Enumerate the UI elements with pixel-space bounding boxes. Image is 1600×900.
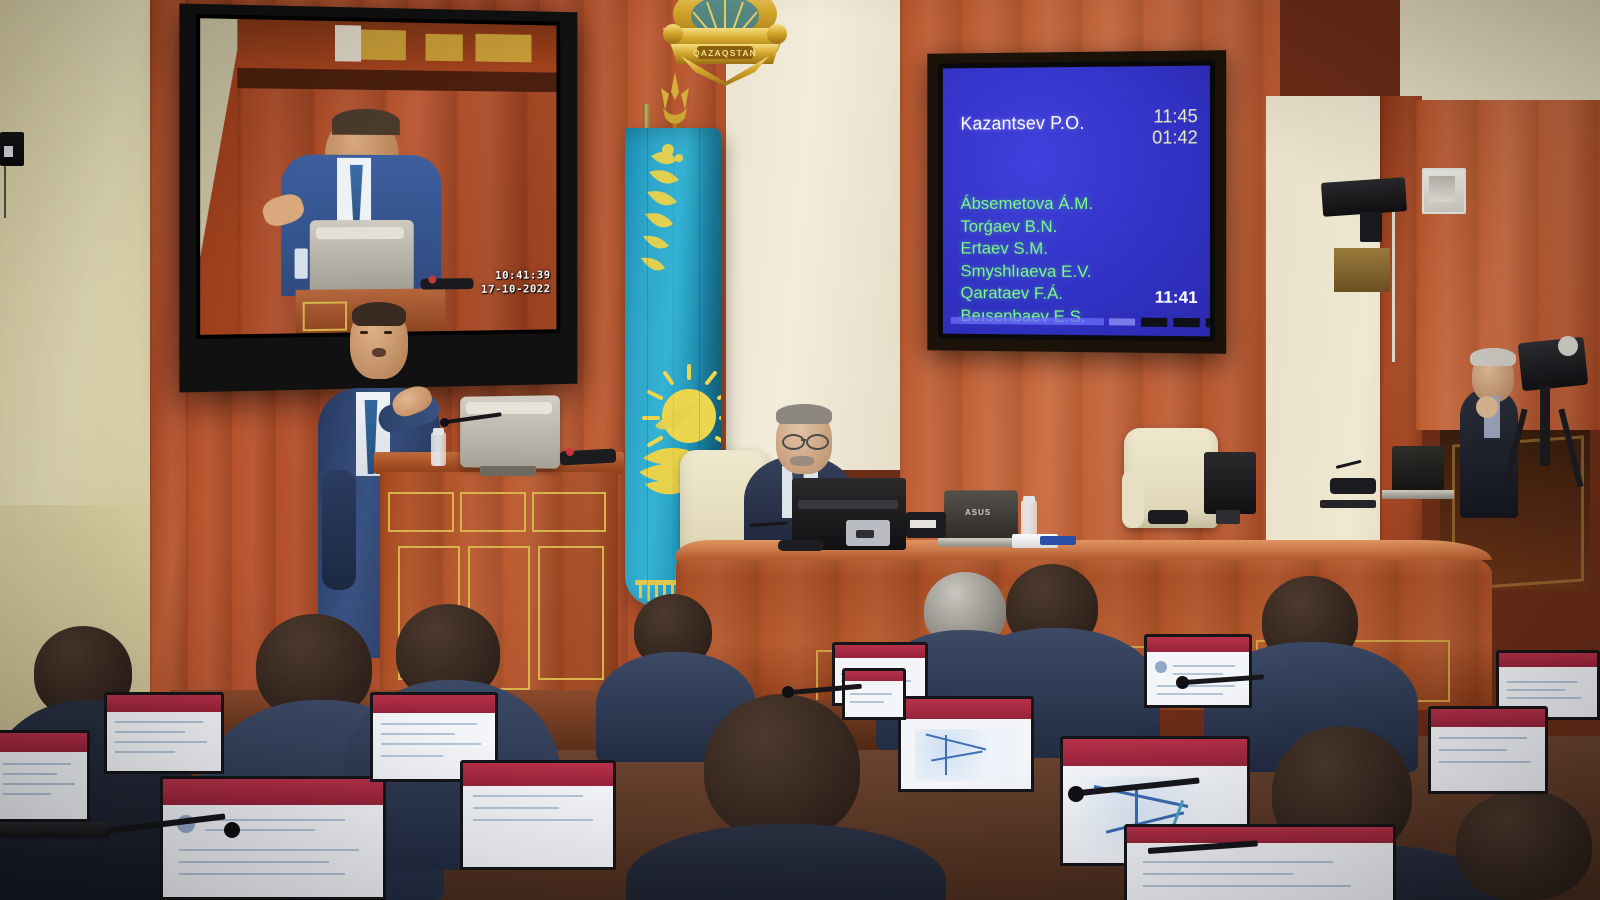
audience-microphone-tip <box>1176 676 1189 689</box>
audience-laptop-header <box>107 695 221 712</box>
right-desk-laptop-base <box>1382 490 1454 499</box>
display-progress-bar <box>951 317 1104 325</box>
audience-laptop <box>0 730 90 822</box>
svg-text:QAZAQSTAN: QAZAQSTAN <box>693 48 757 58</box>
audience-head-foreground <box>704 694 860 840</box>
display-speaker-timer: 01:42 <box>1152 128 1198 150</box>
air-vent-grille <box>1429 176 1455 202</box>
display-progress-bar-segment <box>1109 318 1135 325</box>
speaker-arm-lower <box>322 470 356 590</box>
chairman-hair <box>776 404 832 424</box>
chairman-monitor-vent <box>798 500 898 509</box>
rostrum-bottle-cap <box>433 428 444 435</box>
rostrum-indicator-light <box>566 448 574 456</box>
flagpole-finial-icon <box>655 70 695 136</box>
speaker-queue-list: Ábsemetova Á.M. Torǵaev B.N. Ertaev S.M.… <box>960 193 1093 329</box>
audience-laptop-header <box>1147 637 1249 652</box>
session-hall-photo: 10:41:39 17-10-2022 <box>0 0 1600 900</box>
projection-screen-image: 10:41:39 17-10-2022 <box>200 18 556 335</box>
audience-laptop-screen <box>901 699 1031 789</box>
audience-laptop-screen <box>0 733 87 819</box>
right-desk-monitor-stand <box>1216 510 1240 524</box>
tripod-leg-center <box>1540 386 1550 466</box>
tripod-camera-lens <box>1558 336 1578 356</box>
wall-speaker-light <box>4 146 13 157</box>
audience-laptop-screen <box>163 779 383 897</box>
ceiling-camera-icon <box>1321 177 1407 217</box>
projected-speaker-hair <box>332 108 400 135</box>
chairman-glasses-left <box>782 434 805 450</box>
presidium-bottle-cap <box>1023 496 1035 503</box>
audience-laptop <box>1428 706 1548 794</box>
rostrum-monitor-vent <box>466 402 552 414</box>
audience-laptop-screen <box>463 763 613 867</box>
cameraman-hair <box>1470 348 1516 366</box>
display-osd-chip-1 <box>1141 318 1167 327</box>
audience-laptop <box>1144 634 1252 708</box>
display-bottom-time: 11:41 <box>1155 288 1198 308</box>
audience-laptop-header <box>0 733 87 752</box>
audience-laptop-screen <box>1147 637 1249 705</box>
audience-laptop-base <box>0 822 110 838</box>
display-osd-chip-3 <box>1206 318 1210 327</box>
audience-laptop <box>160 776 386 900</box>
rostrum-monitor-stand <box>480 466 536 476</box>
current-speaker-name: Kazantsev P.O. <box>960 113 1084 135</box>
chairman-glasses-bridge <box>801 439 806 441</box>
display-clock-time: 11:45 <box>1152 106 1198 128</box>
audience-laptop-screen <box>107 695 221 771</box>
camera-conduit <box>1392 212 1395 362</box>
chairman-stand-slot <box>856 530 874 538</box>
far-cream-wall <box>1400 0 1600 110</box>
cameraman-hand <box>1476 396 1498 418</box>
right-desk-keyboard <box>1320 500 1376 508</box>
projection-timestamp-date: 17-10-2022 <box>481 282 551 296</box>
audience-laptop-header <box>1127 827 1393 843</box>
chairman-beard <box>790 456 814 466</box>
right-desk-conference-unit-2 <box>1330 478 1376 494</box>
voting-info-display: Kazantsev P.O. 11:45 01:42 Ábsemetova Á.… <box>927 50 1226 354</box>
display-screen: Kazantsev P.O. 11:45 01:42 Ábsemetova Á.… <box>943 66 1210 337</box>
queue-item: Qarataev F.Á. <box>960 283 1093 307</box>
audience-laptop <box>104 692 224 774</box>
audience-laptop-header <box>373 695 495 713</box>
queue-item: Smyshlıaeva E.V. <box>960 260 1093 283</box>
right-desk-monitor <box>1204 452 1256 514</box>
ceiling-camera-bracket <box>1334 248 1390 292</box>
audience-head-foreground <box>1456 790 1592 900</box>
audience-laptop <box>1124 824 1396 900</box>
projection-timestamp-time: 10:41:39 <box>481 269 551 283</box>
rostrum-water-bottle <box>431 432 446 466</box>
right-desk-laptop-lid <box>1392 446 1444 494</box>
speaker-hair <box>352 302 406 326</box>
display-bezel: Kazantsev P.O. 11:45 01:42 Ábsemetova Á.… <box>938 60 1215 341</box>
blue-folder <box>1040 536 1076 545</box>
chairman-desk-device-label <box>910 520 936 528</box>
chairman-conference-unit <box>778 540 824 551</box>
audience-laptop-header <box>1431 709 1545 727</box>
audience-laptop-header <box>163 779 383 805</box>
audience-microphone-tip <box>782 686 794 698</box>
audience-microphone-tip <box>1068 786 1084 802</box>
audience-laptop-screen <box>1431 709 1545 791</box>
audience-laptop-header <box>463 763 613 786</box>
speaker-eye-left <box>360 331 368 334</box>
display-clock-block: 11:45 01:42 <box>1152 106 1198 149</box>
audience-laptop-header <box>1499 653 1597 667</box>
projected-bottle <box>294 249 307 279</box>
audience-laptop-header <box>835 645 925 658</box>
speaker-eye-right <box>384 331 392 334</box>
audience-laptop <box>898 696 1034 792</box>
audience-laptop <box>842 668 906 720</box>
speaker-mouth <box>372 348 386 357</box>
presidium-water-bottle <box>1021 500 1037 538</box>
projection-screen-bezel: 10:41:39 17-10-2022 <box>196 14 560 339</box>
right-desk-conference-unit <box>1148 510 1188 524</box>
audience-laptop-screen <box>1127 827 1393 900</box>
presidium-chair-armrest <box>1122 470 1144 528</box>
queue-item: Torǵaev B.N. <box>960 215 1093 238</box>
rostrum-microphone-tip <box>440 418 449 427</box>
ceiling-camera-mount <box>1360 212 1382 242</box>
audience-microphone-tip <box>224 822 240 838</box>
display-osd-chip-2 <box>1173 318 1199 327</box>
audience-laptop-screen <box>845 671 903 717</box>
queue-item: Ábsemetova Á.M. <box>960 193 1093 216</box>
wall-speaker-cable <box>4 166 6 218</box>
audience-laptop <box>460 760 616 870</box>
queue-item: Ertaev S.M. <box>960 238 1093 261</box>
audience-laptop-header <box>1063 739 1247 766</box>
asus-laptop-brand: ASUS <box>965 508 989 516</box>
audience-laptop-header <box>845 671 903 681</box>
audience-laptop-header <box>901 699 1031 719</box>
chairman-glasses-right <box>806 434 829 450</box>
